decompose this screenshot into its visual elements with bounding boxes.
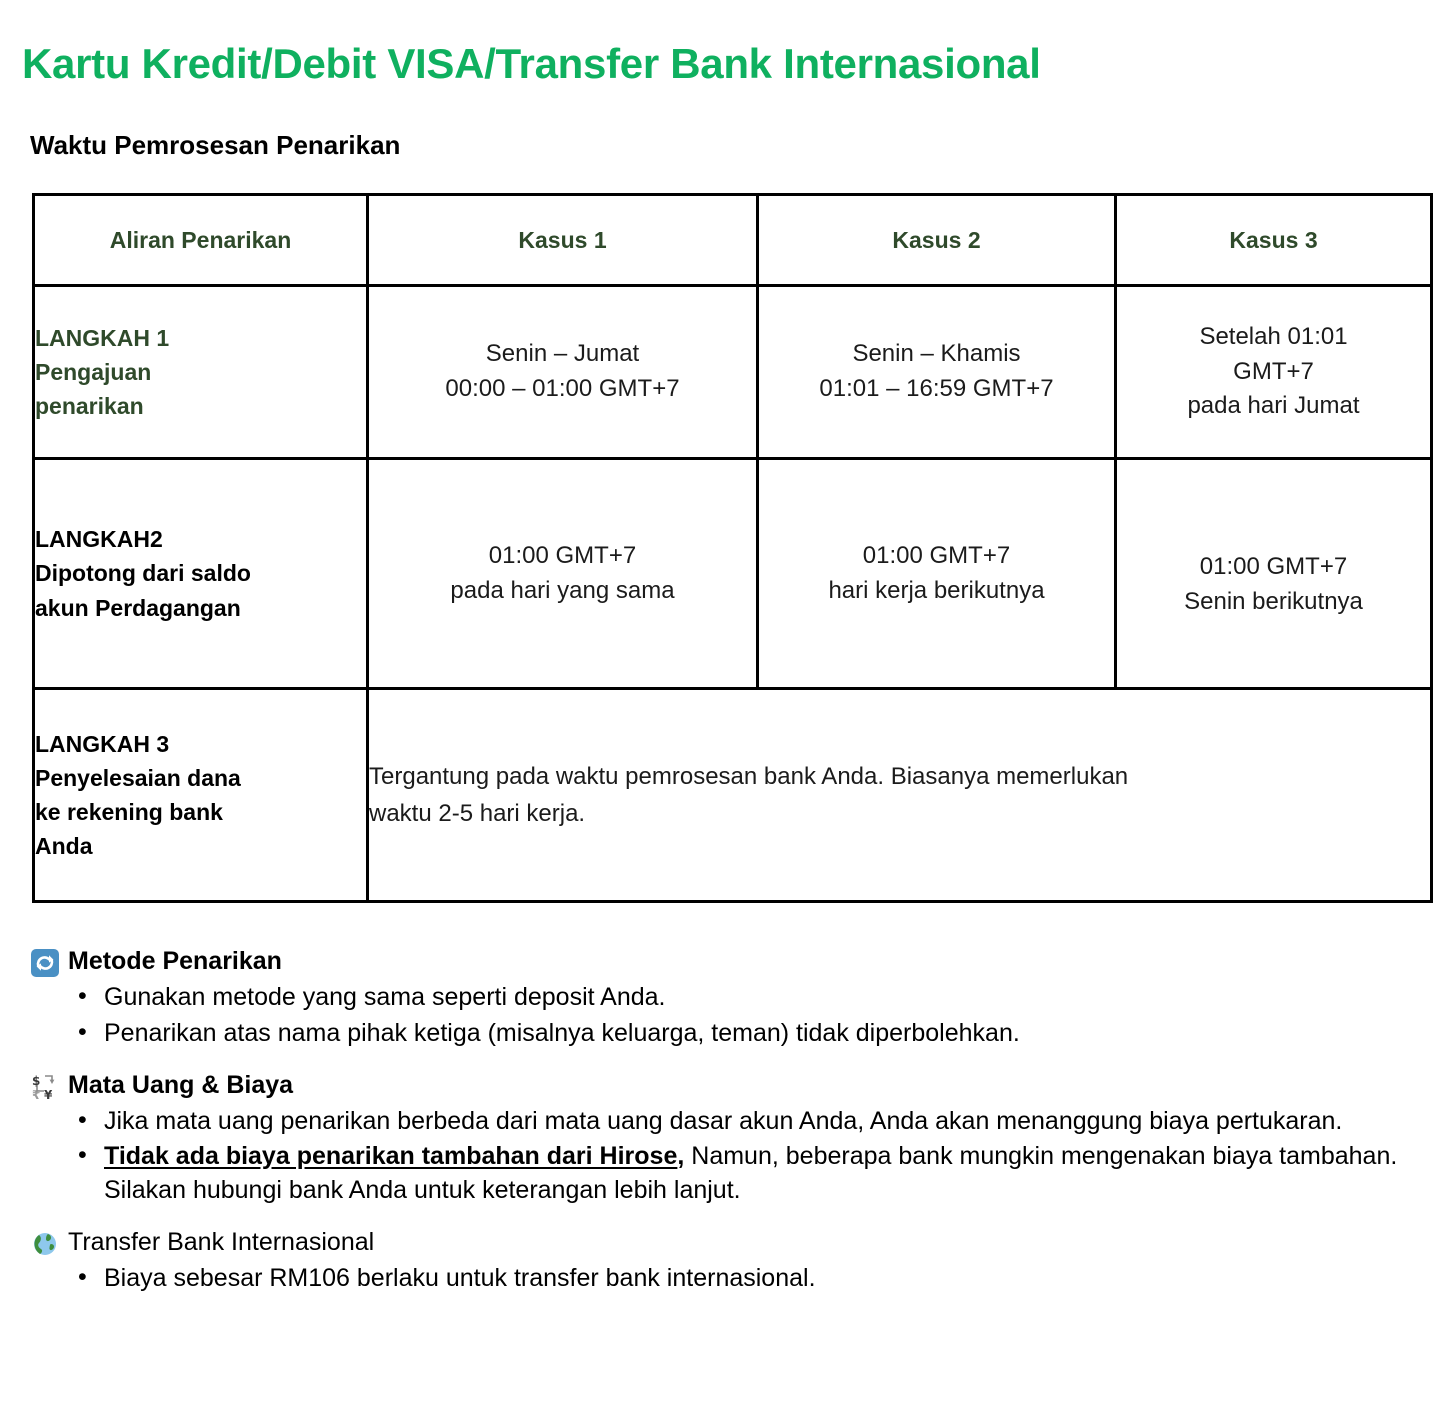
currency-exchange-icon: $ ₹ ¥ [30,1072,64,1102]
cell-line: GMT+7 [1117,355,1430,390]
section-heading-label: Metode Penarikan [68,946,282,977]
row-label-line: akun Perdagangan [35,591,366,625]
cell-langkah1-kasus2: Senin – Khamis 01:01 – 16:59 GMT+7 [758,286,1116,459]
cell-line: Tergantung pada waktu pemrosesan bank An… [369,758,1430,795]
page-title: Kartu Kredit/Debit VISA/Transfer Bank In… [22,40,1041,88]
cell-line: Senin – Jumat [369,337,756,372]
row-label-langkah-1: LANGKAH 1 Pengajuan penarikan [34,286,368,459]
row-label-langkah-2: LANGKAH2 Dipotong dari saldo akun Perdag… [34,459,368,689]
section-heading-label: Transfer Bank Internasional [68,1227,374,1258]
section-heading-label: Mata Uang & Biaya [68,1070,293,1101]
row-label-line: Anda [35,829,366,863]
table-row: LANGKAH 1 Pengajuan penarikan Senin – Ju… [34,286,1432,459]
cell-line: 00:00 – 01:00 GMT+7 [369,372,756,407]
cell-line: waktu 2-5 hari kerja. [369,795,1430,832]
cell-line: 01:00 GMT+7 [759,539,1114,574]
section-heading-mata-uang-biaya: $ ₹ ¥ Mata Uang & Biaya [30,1070,1420,1101]
row-label-line: Pengajuan [35,355,366,389]
table-header-kasus-1: Kasus 1 [368,195,758,286]
section-mata-uang-biaya: $ ₹ ¥ Mata Uang & Biaya Jika mata uang p… [30,1070,1420,1207]
cell-line: 01:01 – 16:59 GMT+7 [759,372,1114,407]
table-header-kasus-3: Kasus 3 [1116,195,1432,286]
table-header-kasus-2: Kasus 2 [758,195,1116,286]
table-header-flow: Aliran Penarikan [34,195,368,286]
row-label-line: LANGKAH2 [35,522,366,556]
processing-time-table-wrapper: Aliran Penarikan Kasus 1 Kasus 2 Kasus 3… [32,193,1430,903]
section-transfer-bank-internasional: Transfer Bank Internasional Biaya sebesa… [30,1227,1420,1296]
cell-line: 01:00 GMT+7 [369,539,756,574]
page-root: Kartu Kredit/Debit VISA/Transfer Bank In… [0,0,1435,1401]
row-label-line: ke rekening bank [35,795,366,829]
emphasis-text: Tidak ada biaya penarikan tambahan dari … [104,1142,677,1170]
list-item: Gunakan metode yang sama seperti deposit… [76,981,1420,1014]
section-subtitle: Waktu Pemrosesan Penarikan [30,130,400,161]
processing-time-table: Aliran Penarikan Kasus 1 Kasus 2 Kasus 3… [32,193,1433,903]
table-row: LANGKAH2 Dipotong dari saldo akun Perdag… [34,459,1432,689]
cell-langkah2-kasus2: 01:00 GMT+7 hari kerja berikutnya [758,459,1116,689]
row-label-line: LANGKAH 1 [35,321,366,355]
cell-line: 01:00 GMT+7 [1117,550,1430,585]
list-item: Penarikan atas nama pihak ketiga (misaln… [76,1017,1420,1050]
cell-line: hari kerja berikutnya [759,574,1114,609]
table-header-row: Aliran Penarikan Kasus 1 Kasus 2 Kasus 3 [34,195,1432,286]
bullet-list-transfer-bank: Biaya sebesar RM106 berlaku untuk transf… [30,1262,1420,1295]
cell-line: Senin – Khamis [759,337,1114,372]
section-metode-penarikan: Metode Penarikan Gunakan metode yang sam… [30,946,1420,1050]
cell-line: pada hari yang sama [369,574,756,609]
svg-text:$: $ [32,1074,40,1088]
bullet-list-metode-penarikan: Gunakan metode yang sama seperti deposit… [30,981,1420,1050]
bullet-list-mata-uang-biaya: Jika mata uang penarikan berbeda dari ma… [30,1105,1420,1207]
svg-text:¥: ¥ [44,1088,53,1102]
cell-langkah1-kasus1: Senin – Jumat 00:00 – 01:00 GMT+7 [368,286,758,459]
cell-line: Senin berikutnya [1117,585,1430,620]
section-heading-transfer-bank: Transfer Bank Internasional [30,1227,1420,1258]
cell-langkah2-kasus3: 01:00 GMT+7 Senin berikutnya [1116,459,1432,689]
list-item: Biaya sebesar RM106 berlaku untuk transf… [76,1262,1420,1295]
svg-text:₹: ₹ [32,1088,40,1102]
row-label-line: Dipotong dari saldo [35,556,366,590]
cell-langkah3-merged-note: Tergantung pada waktu pemrosesan bank An… [368,689,1432,902]
section-heading-metode-penarikan: Metode Penarikan [30,946,1420,977]
list-item: Jika mata uang penarikan berbeda dari ma… [76,1105,1420,1138]
row-label-line: Penyelesaian dana [35,761,366,795]
cell-langkah2-kasus1: 01:00 GMT+7 pada hari yang sama [368,459,758,689]
cell-langkah1-kasus3: Setelah 01:01 GMT+7 pada hari Jumat [1116,286,1432,459]
notes-sections: Metode Penarikan Gunakan metode yang sam… [30,946,1420,1297]
cell-line: pada hari Jumat [1117,389,1430,424]
row-label-line: LANGKAH 3 [35,727,366,761]
globe-icon [30,1229,64,1259]
table-row: LANGKAH 3 Penyelesaian dana ke rekening … [34,689,1432,902]
cell-line: Setelah 01:01 [1117,320,1430,355]
list-item-rich: Tidak ada biaya penarikan tambahan dari … [76,1140,1420,1207]
refresh-arrows-icon [30,948,64,978]
row-label-langkah-3: LANGKAH 3 Penyelesaian dana ke rekening … [34,689,368,902]
row-label-line: penarikan [35,389,366,423]
